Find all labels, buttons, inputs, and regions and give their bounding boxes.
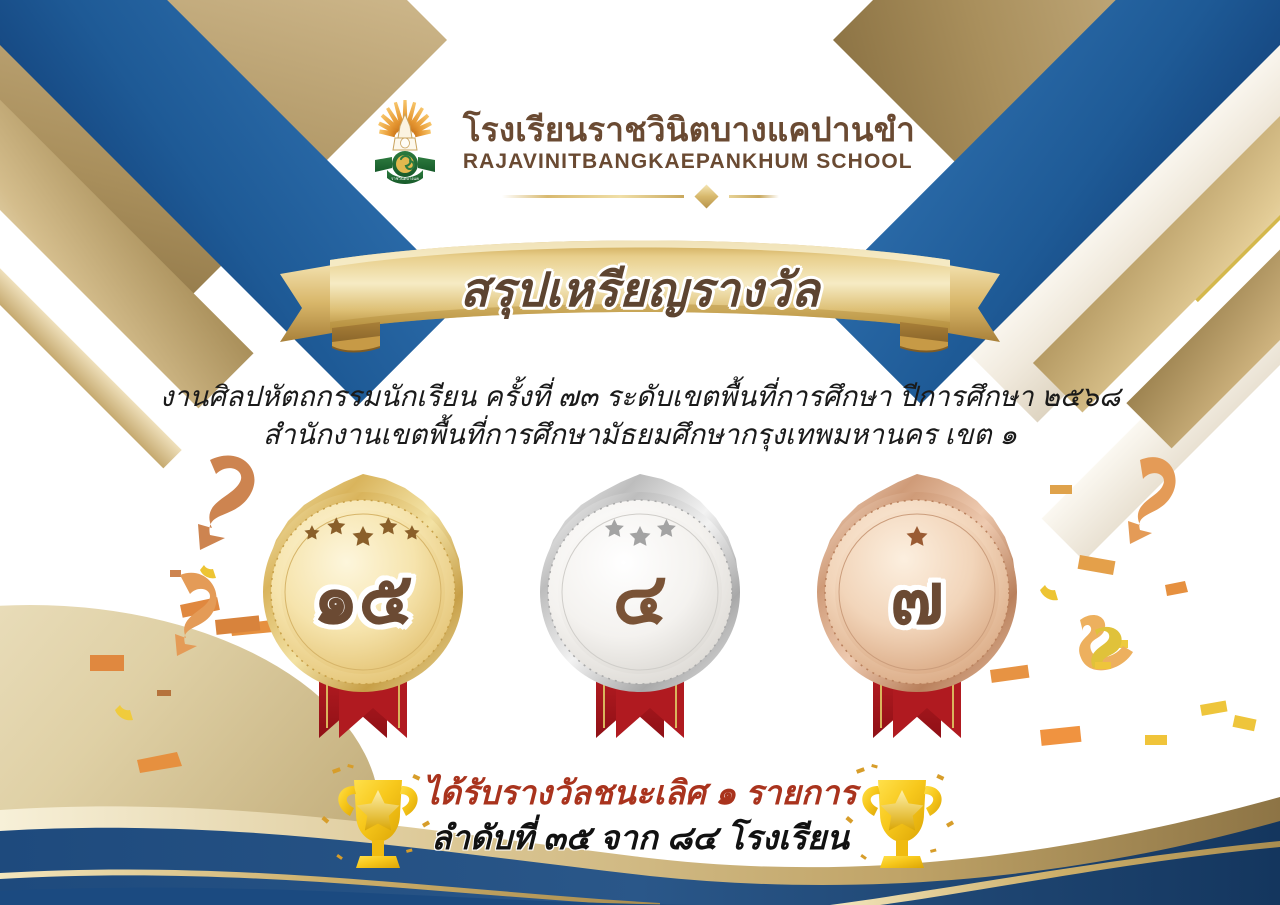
award-footer: ได้รับรางวัลชนะเลิศ ๑ รายการ ลำดับที่ ๓๕… bbox=[0, 772, 1280, 859]
gold-medal-count: ๑๕ bbox=[241, 470, 485, 714]
header-divider bbox=[0, 188, 1280, 205]
divider-line-right bbox=[729, 195, 779, 198]
event-subtitle-line-1: งานศิลปหัตถกรรมนักเรียน ครั้งที่ ๗๓ ระดั… bbox=[0, 378, 1280, 416]
corner-decor-top-right-cream bbox=[953, 0, 1280, 423]
diamond-icon bbox=[694, 184, 718, 208]
event-subtitle-line-2: สำนักงานเขตพื้นที่การศึกษามัธยมศึกษากรุง… bbox=[0, 416, 1280, 454]
medal-silver: ๔ bbox=[518, 470, 762, 740]
school-name-en: RAJAVINITBANGKAEPANKHUM SCHOOL bbox=[463, 151, 915, 172]
school-name-th: โรงเรียนราชวินิตบางแคปานขำ bbox=[463, 113, 915, 146]
medal-bronze: ๗ bbox=[795, 470, 1039, 740]
bronze-medal-count: ๗ bbox=[795, 470, 1039, 714]
school-name-block: โรงเรียนราชวินิตบางแคปานขำ RAJAVINITBANG… bbox=[463, 113, 915, 172]
medal-gold: ๑๕ bbox=[241, 470, 485, 740]
corner-decor-top-right-gold-chevron bbox=[1033, 0, 1280, 413]
school-header: ราชวินิตบางแค โรงเรียนราชวินิตบางแคปานขำ… bbox=[0, 96, 1280, 188]
event-subtitles: งานศิลปหัตถกรรมนักเรียน ครั้งที่ ๗๓ ระดั… bbox=[0, 378, 1280, 454]
divider-line-left bbox=[502, 195, 684, 198]
royal-emblem-icon: ราชวินิตบางแค bbox=[365, 96, 445, 188]
certificate-canvas: ราชวินิตบางแค โรงเรียนราชวินิตบางแคปานขำ… bbox=[0, 0, 1280, 905]
award-footer-line-2: ลำดับที่ ๓๕ จาก ๘๔ โรงเรียน bbox=[0, 817, 1280, 859]
svg-text:ราชวินิตบางแค: ราชวินิตบางแค bbox=[391, 176, 419, 181]
award-footer-line-1: ได้รับรางวัลชนะเลิศ ๑ รายการ bbox=[0, 772, 1280, 814]
medal-summary-row: ๑๕ bbox=[0, 470, 1280, 740]
title-banner: สรุปเหรียญรางวัล bbox=[280, 236, 1000, 366]
silver-medal-count: ๔ bbox=[518, 470, 762, 714]
banner-title-text: สรุปเหรียญรางวัล bbox=[280, 236, 1000, 348]
